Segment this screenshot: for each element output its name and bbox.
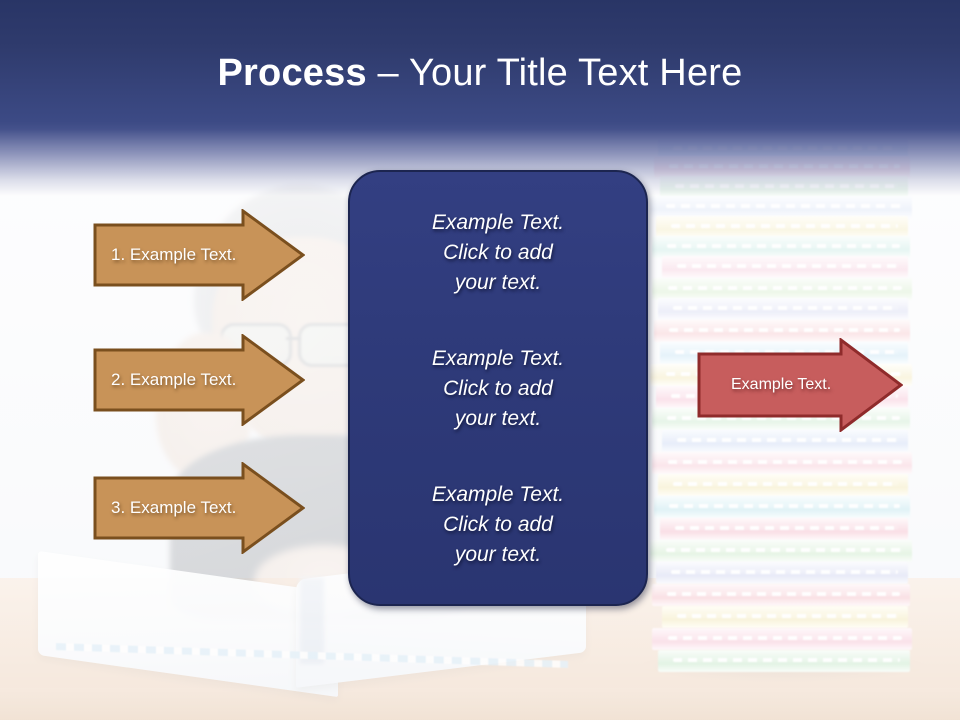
photo-notebook-15 (662, 430, 908, 452)
page-title-rest: – Your Title Text Here (367, 52, 743, 94)
panel-text-block-3: Example Text. Click to add your text. (372, 480, 624, 570)
photo-notebook-20 (650, 540, 912, 562)
page-title-bold: Process (218, 52, 367, 94)
photo-notebook-6 (652, 236, 910, 258)
photo-desk-edge (0, 688, 960, 720)
step-arrow-2-label: 2. Example Text. (93, 370, 236, 390)
slide-canvas: Process – Your Title Text Here 1. Exampl… (0, 0, 960, 720)
step-arrow-1-label: 1. Example Text. (93, 245, 236, 265)
photo-book-page-left (38, 551, 338, 697)
photo-notebook-5 (656, 216, 908, 238)
photo-notebook-7 (662, 256, 908, 278)
photo-notebook-19 (660, 518, 908, 540)
result-arrow-label: Example Text. (697, 376, 831, 394)
page-title: Process – Your Title Text Here (0, 50, 960, 96)
photo-notebook-17 (658, 474, 908, 496)
photo-notebook-4 (650, 196, 912, 218)
result-arrow[interactable]: Example Text. (697, 338, 903, 432)
photo-notebook-16 (652, 452, 912, 474)
photo-notebook-21 (656, 562, 908, 584)
center-text-panel[interactable]: Example Text. Click to add your text. Ex… (348, 170, 648, 606)
photo-notebook-18 (654, 496, 910, 518)
panel-text-block-2: Example Text. Click to add your text. (372, 344, 624, 434)
step-arrow-2[interactable]: 2. Example Text. (93, 334, 305, 426)
photo-notebook-23 (662, 606, 908, 628)
photo-notebook-24 (652, 628, 912, 650)
photo-notebook-8 (652, 278, 912, 300)
step-arrow-1[interactable]: 1. Example Text. (93, 209, 305, 301)
photo-notebook-9 (658, 298, 908, 320)
step-arrow-3-label: 3. Example Text. (93, 498, 236, 518)
photo-notebook-22 (652, 584, 910, 606)
step-arrow-3[interactable]: 3. Example Text. (93, 462, 305, 554)
photo-notebook-25 (658, 650, 910, 672)
title-band (0, 0, 960, 196)
panel-text-block-1: Example Text. Click to add your text. (372, 208, 624, 298)
